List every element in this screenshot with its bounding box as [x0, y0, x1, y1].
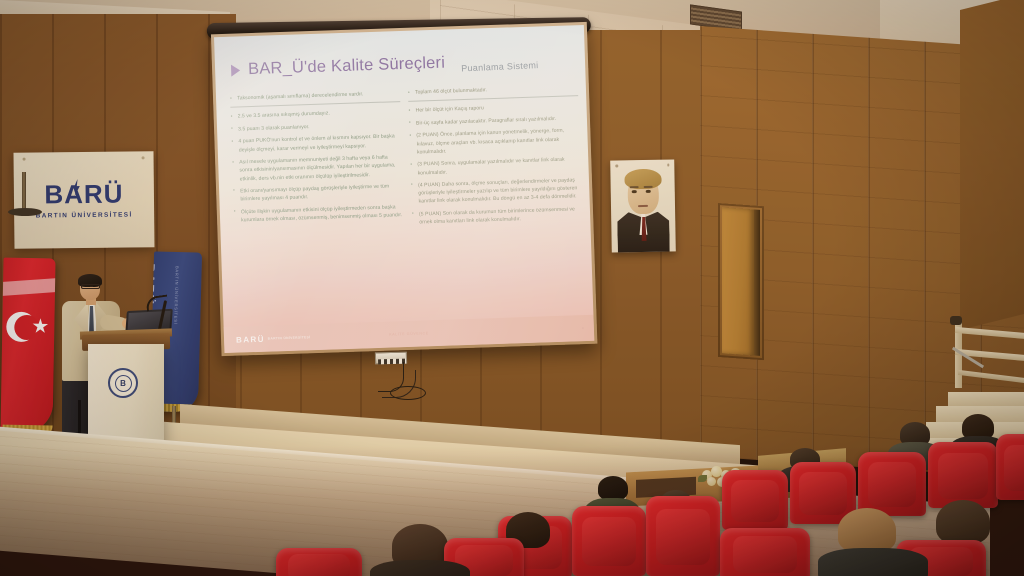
glasses-icon: [81, 284, 100, 289]
podium-emblem-letter: B: [115, 375, 132, 392]
slide-header: BAR_Ü'de Kalite Süreçleri Puanlama Siste…: [231, 49, 575, 79]
audience-shoulders: [818, 548, 928, 576]
stair-rail-knob: [950, 316, 962, 325]
audience-head: [936, 500, 990, 544]
list-item: Bir-üç sayfa kadar yazılacaktır. Paragra…: [409, 114, 579, 128]
audience-shoulders: [370, 560, 470, 576]
door-gap: [754, 210, 760, 356]
seat[interactable]: [720, 528, 810, 576]
podium-university-emblem: B: [108, 368, 138, 398]
footer-center-text: KALİTE GÜVENCE: [389, 331, 429, 336]
slide-left-column: Taksonomik (aşamalı sınıflama) derecelen…: [230, 89, 405, 237]
far-right-wall: [960, 0, 1024, 330]
ataturk-portrait: [610, 159, 676, 252]
baru-subtitle: BARTIN ÜNİVERSİTESİ: [36, 211, 133, 219]
list-item: (5 PUAN) Son olarak da kurumun tüm birim…: [412, 205, 582, 227]
slide-right-column: Toplam 46 ölçüt bulunmaktadır. Her bir ö…: [408, 83, 583, 231]
portrait-brow-right: [644, 186, 653, 188]
list-item: Ölçüte ilişkin uygulamanın etkisini ölçü…: [234, 203, 404, 225]
cable-loop: [390, 386, 426, 400]
list-item: 3.5 puanı 3 olarak puanlanıyor.: [231, 120, 401, 134]
audience-head: [838, 508, 896, 552]
seat[interactable]: [722, 470, 788, 530]
screen-border: BAR_Ü'de Kalite Süreçleri Puanlama Siste…: [211, 22, 597, 356]
flag-highlight-band: [3, 278, 55, 296]
turkish-flag: [0, 258, 55, 434]
footer-dot: [582, 327, 584, 329]
list-item: 4 puan PUKÖ'nun kontrol et ve önlem al k…: [231, 132, 401, 154]
seat[interactable]: [646, 496, 720, 576]
door-leaf: [722, 207, 754, 355]
portrait-eye-left: [632, 190, 637, 193]
baru-wall-sign: BARÜ BARTIN ÜNİVERSİTESİ: [14, 151, 155, 248]
auditorium-presentation-scene: BAR_Ü'de Kalite Süreçleri Puanlama Siste…: [0, 0, 1024, 576]
divider: [230, 102, 400, 109]
seat[interactable]: [858, 452, 926, 516]
list-item: Her bir ölçüt için Kaçış raporu: [408, 102, 578, 116]
portrait-eye-right: [646, 190, 651, 193]
stair-step: [948, 392, 1024, 406]
list-item: 2.5 ve 3.5 arasına sıkışmış durumdayız.: [231, 108, 401, 122]
seat[interactable]: [996, 434, 1024, 500]
portrait-brow-left: [630, 186, 639, 188]
list-item: (3 PUAN) Sonra, uygulamalar yazılmalıdır…: [410, 155, 580, 177]
footer-logo: BARÜBARTIN ÜNİVERSİTESİ: [236, 333, 311, 344]
presentation-slide: BAR_Ü'de Kalite Süreçleri Puanlama Siste…: [214, 25, 594, 353]
list-item: Taksonomik (aşamalı sınıflama) derecelen…: [230, 89, 400, 103]
side-door[interactable]: [718, 203, 764, 360]
divider: [408, 96, 578, 103]
list-item: Asıl mesele uygulamanın memnuniyeti deği…: [232, 153, 403, 183]
seat[interactable]: [572, 506, 646, 576]
slide-columns: Taksonomik (aşamalı sınıflama) derecelen…: [230, 83, 583, 237]
list-item: (2 PUAN) Önce, planlama için kanun yönet…: [409, 126, 580, 156]
seat[interactable]: [276, 548, 362, 576]
list-item: (4 PUAN) Daha sonra, ölçme sonuçları, de…: [411, 176, 582, 206]
university-flag-subtitle: BARTIN ÜNİVERSİTESİ: [173, 266, 180, 325]
slide-footer: BARÜBARTIN ÜNİVERSİTESİ KALİTE GÜVENCE: [224, 315, 595, 353]
portrait-mouth: [638, 205, 648, 207]
turkish-flag-base: [8, 208, 42, 216]
list-item: Toplam 46 ölçüt bulunmaktadır.: [408, 83, 578, 97]
triangle-right-icon: [231, 64, 240, 76]
baru-logo-text: BARÜ: [44, 181, 123, 208]
turkish-flag-pole: [22, 172, 26, 212]
audience-head: [598, 476, 628, 500]
footer-logo-subtitle: BARTIN ÜNİVERSİTESİ: [268, 335, 311, 340]
crescent-icon: [6, 312, 37, 343]
slide-title: BAR_Ü'de Kalite Süreçleri: [248, 54, 446, 80]
footer-logo-text: BARÜ: [236, 334, 265, 344]
seat[interactable]: [928, 442, 998, 508]
list-item: Etki oranı/yansımayı ölçüp paydaş görüşl…: [233, 182, 403, 204]
slide-subtitle: Puanlama Sistemi: [461, 60, 539, 73]
projection-screen: BAR_Ü'de Kalite Süreçleri Puanlama Siste…: [210, 8, 597, 360]
